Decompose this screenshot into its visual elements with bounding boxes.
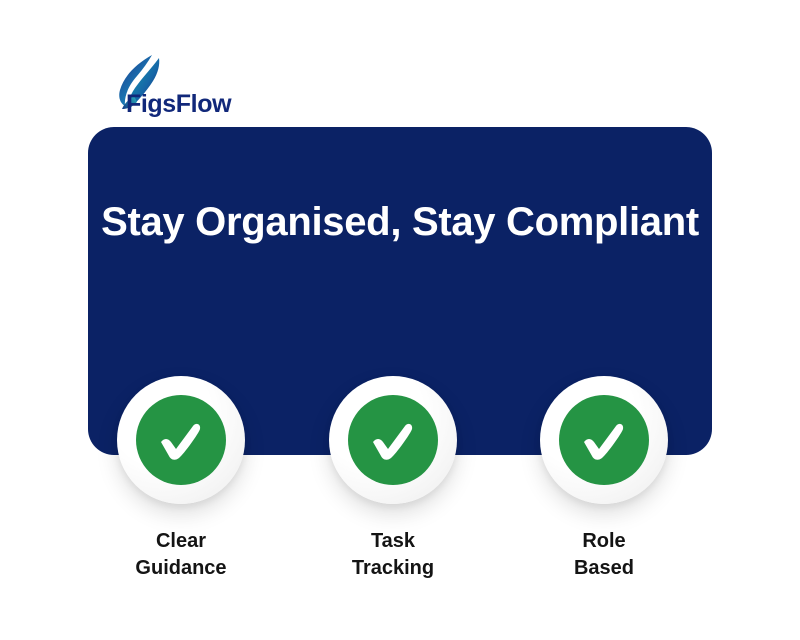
brand-name: FigsFlow <box>126 90 231 119</box>
brand-logo[interactable]: FigsFlow <box>112 52 312 122</box>
feature-badge <box>329 376 457 504</box>
feature-badge <box>540 376 668 504</box>
check-circle-icon <box>348 395 438 485</box>
feature-item-clear-guidance[interactable]: Clear Guidance <box>86 376 276 582</box>
feature-item-role-based[interactable]: Role Based <box>509 376 699 582</box>
feature-badge <box>117 376 245 504</box>
feature-label: Role Based <box>509 528 699 582</box>
check-circle-icon <box>559 395 649 485</box>
feature-item-task-tracking[interactable]: Task Tracking <box>298 376 488 582</box>
hero-title: Stay Organised, Stay Compliant <box>88 197 712 248</box>
check-circle-icon <box>136 395 226 485</box>
poster-canvas: FigsFlow Stay Organised, Stay Compliant … <box>0 0 800 640</box>
feature-label: Clear Guidance <box>86 528 276 582</box>
feature-label: Task Tracking <box>298 528 488 582</box>
